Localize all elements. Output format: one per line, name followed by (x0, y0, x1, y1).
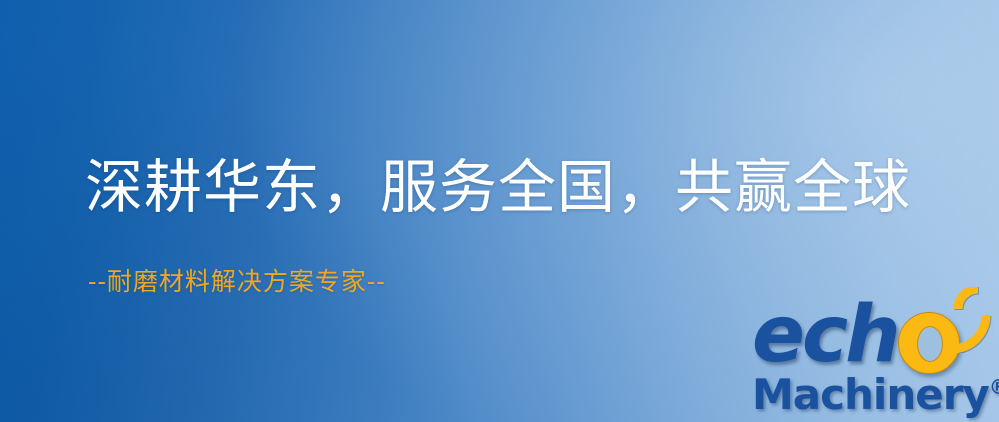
logo-wordmark-text: ech (752, 290, 898, 380)
logo-letter-o-counter (917, 326, 943, 362)
logo-tagline: Machinery® (752, 370, 999, 419)
promotional-banner: 深耕华东，服务全国，共赢全球 --耐磨材料解决方案专家-- ech (0, 0, 999, 422)
echo-waves-icon (944, 287, 999, 353)
logo-wordmark-row: ech (748, 296, 999, 374)
registered-trademark-icon: ® (989, 375, 999, 399)
banner-headline: 深耕华东，服务全国，共赢全球 (85, 157, 911, 218)
company-logo[interactable]: ech Machinery® (748, 296, 999, 422)
banner-subtitle: --耐磨材料解决方案专家-- (88, 268, 386, 296)
logo-tagline-text: Machinery (752, 370, 989, 419)
